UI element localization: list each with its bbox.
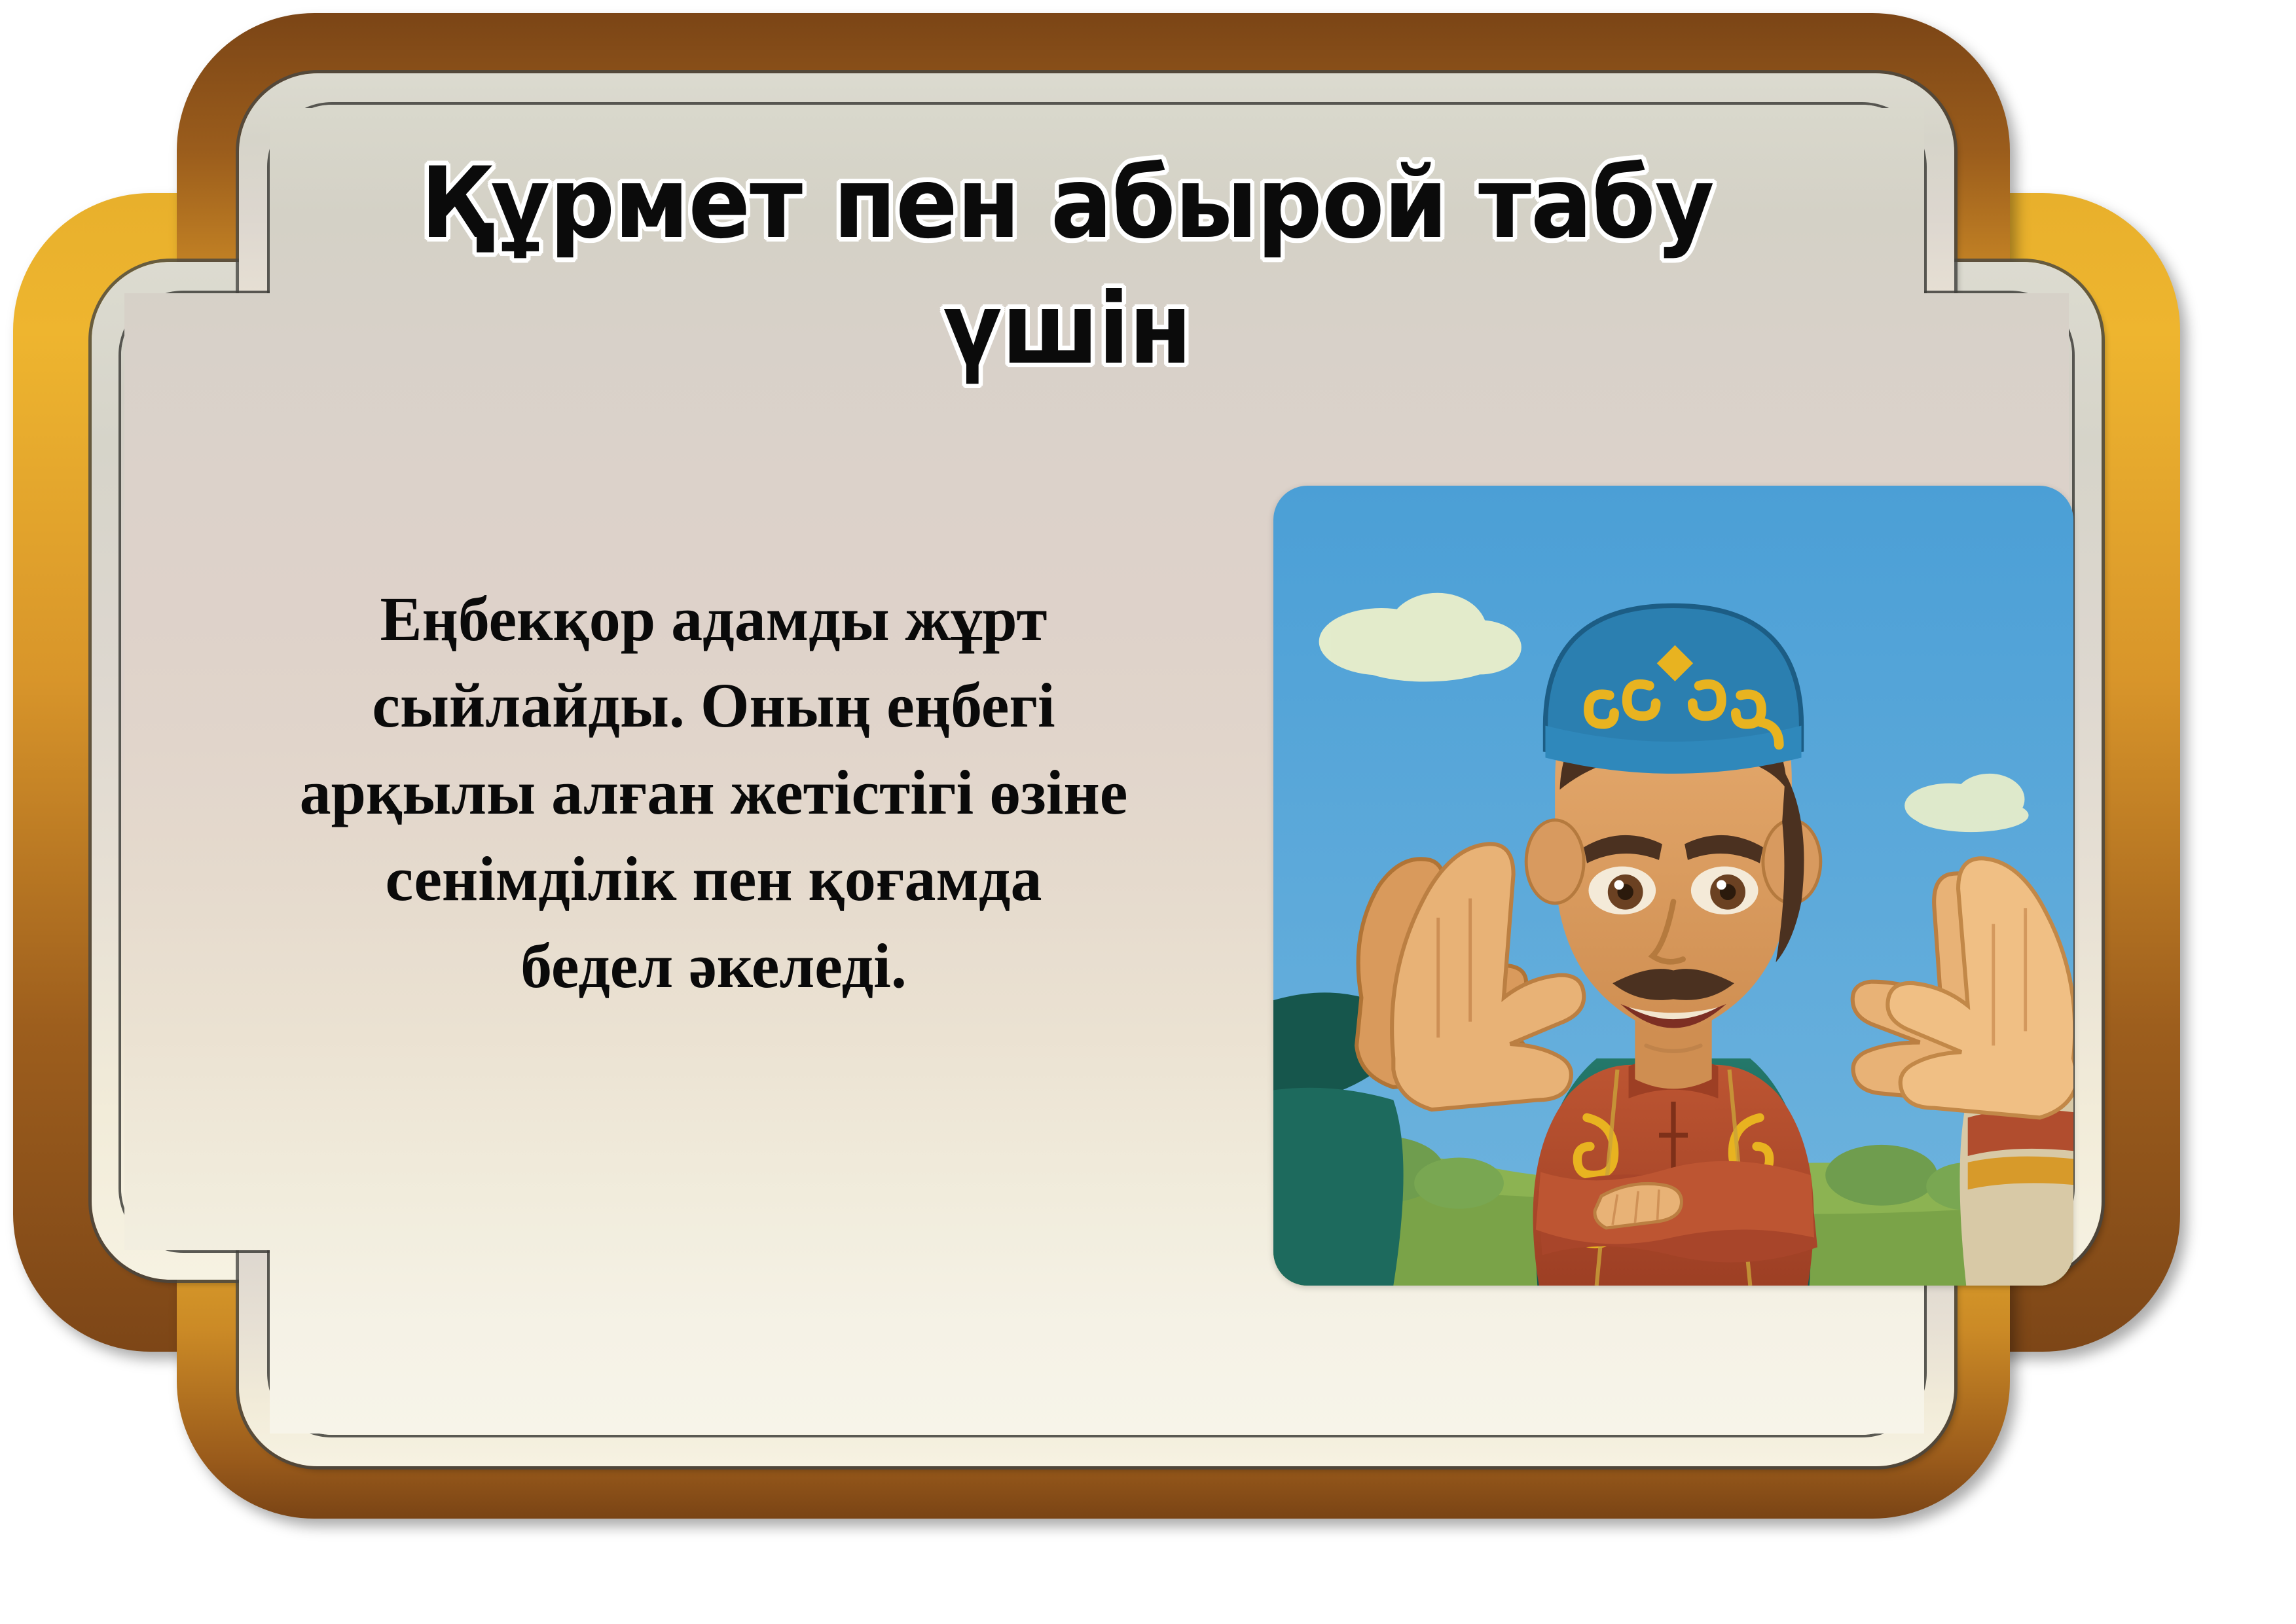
slide-title-line-1: Құрмет пен абырой табу <box>403 141 1730 266</box>
slide-body-text: Еңбекқор адамды жұрт сыйлайды. Оның еңбе… <box>183 576 1244 1009</box>
slide-title: Құрмет пен абырой табу үшін <box>403 141 1730 392</box>
slide-canvas: Құрмет пен абырой табу үшін Еңбекқор ада… <box>0 0 2296 1624</box>
body-line-5: бедел әкеледі. <box>183 923 1244 1009</box>
body-line-4: сенімділік пен қоғамда <box>183 836 1244 922</box>
decorative-plaque-frame: Құрмет пен абырой табу үшін Еңбекқор ада… <box>13 0 2180 1519</box>
slide-title-line-2: үшін <box>403 266 1730 392</box>
body-line-2: сыйлайды. Оның еңбегі <box>183 662 1244 749</box>
body-line-3: арқылы алған жетістігі өзіне <box>183 749 1244 836</box>
illustration-applauded-man <box>1273 486 2073 1286</box>
body-line-1: Еңбекқор адамды жұрт <box>183 576 1244 662</box>
